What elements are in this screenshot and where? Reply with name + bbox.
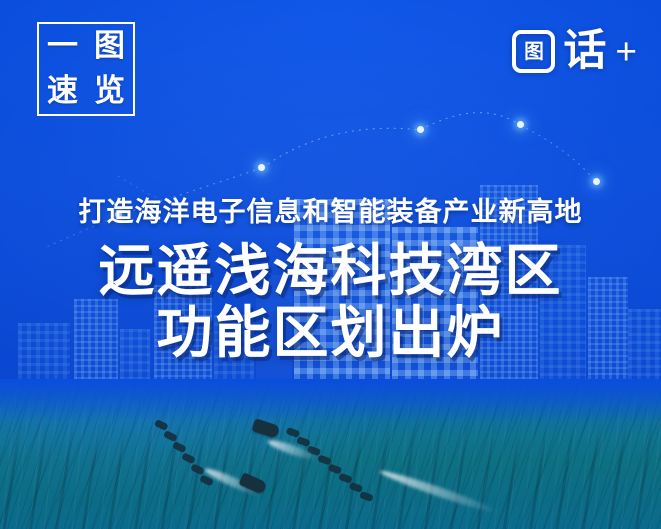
aerial-ocean-photo xyxy=(0,379,661,529)
logo-char: 话 xyxy=(563,30,606,73)
badge-char-2: 图 xyxy=(94,31,125,62)
tuhua-plus-logo: 图 话 + xyxy=(512,30,637,73)
logo-plus-icon: + xyxy=(615,33,637,70)
badge-char-1: 一 xyxy=(47,31,78,62)
title-block: 打造海洋电子信息和智能装备产业新高地 远遥浅海科技湾区 功能区划出炉 xyxy=(0,190,661,365)
headline-line-1: 远遥浅海科技湾区 xyxy=(0,241,661,303)
seaweed-raft-lines xyxy=(0,421,661,529)
subtitle: 打造海洋电子信息和智能装备产业新高地 xyxy=(0,190,661,229)
badge-char-3: 速 xyxy=(47,76,78,107)
sea-top-fade xyxy=(0,379,661,421)
one-image-overview-badge: 一 图 速 览 xyxy=(37,22,135,116)
infographic-poster: 一 图 速 览 图 话 + 打造海洋电子信息和智能装备产业新高地 远遥浅海科技湾… xyxy=(0,0,661,529)
logo-boxed-char: 图 xyxy=(512,30,555,73)
badge-char-4: 览 xyxy=(94,76,125,107)
headline-line-2: 功能区划出炉 xyxy=(0,303,661,365)
logo-boxed-char-text: 图 xyxy=(524,42,544,62)
